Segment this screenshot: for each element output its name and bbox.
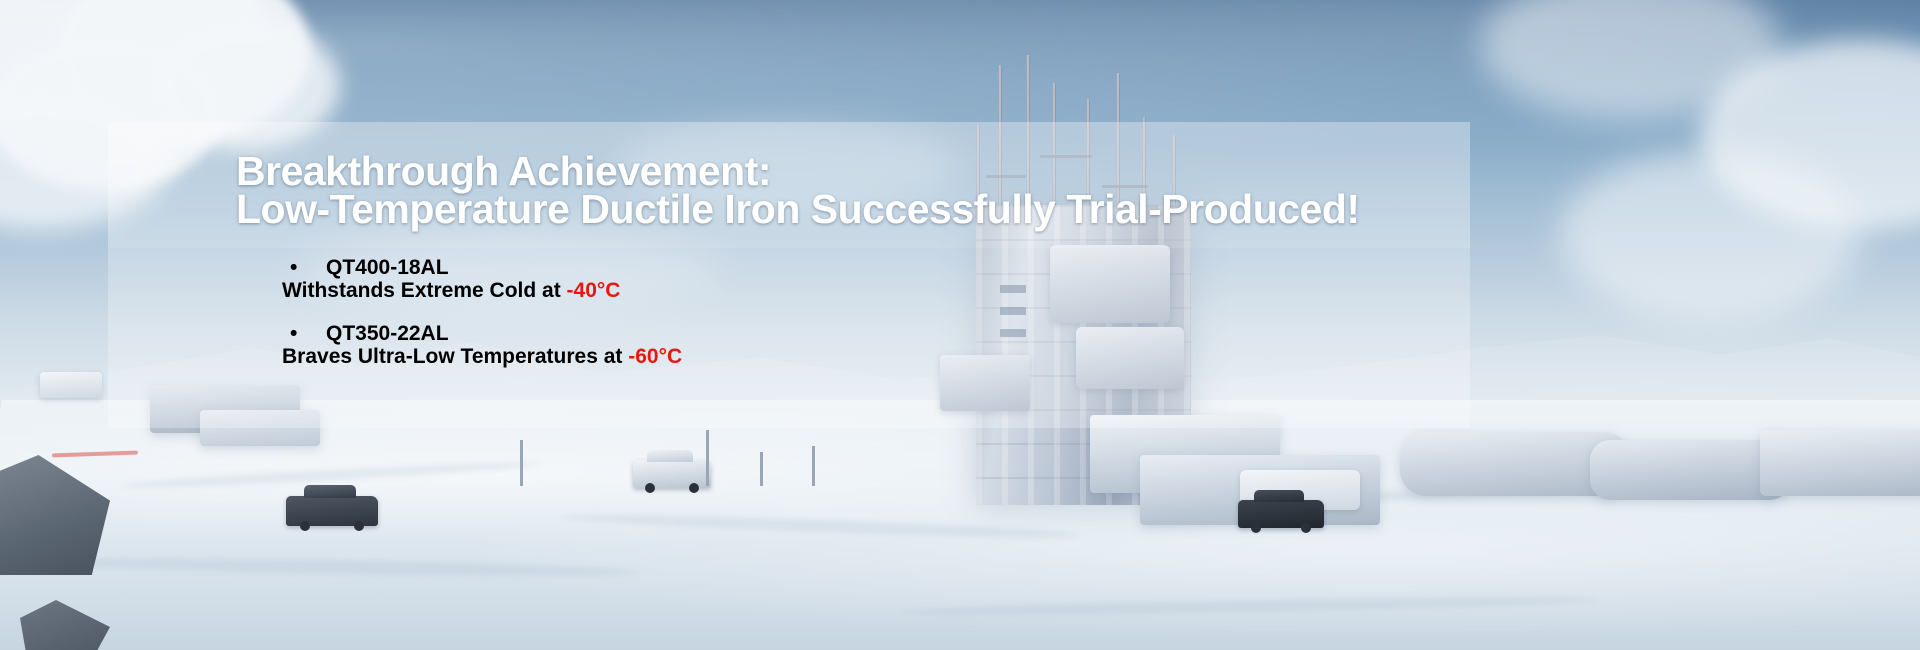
feature-grade: QT350-22AL [326, 322, 449, 345]
headline-line-1: Breakthrough Achievement: [236, 152, 1466, 190]
vehicle-icon [633, 460, 711, 488]
feature-grade-row: •QT400-18AL [282, 256, 1382, 279]
feature-description-row: Braves Ultra-Low Temperatures at -60°C [282, 345, 1382, 368]
wheel-shape [689, 483, 699, 493]
wheel-shape [645, 483, 655, 493]
feature-temperature: -40°C [567, 279, 621, 302]
list-item: •QT400-18AL Withstands Extreme Cold at -… [282, 256, 1382, 302]
utility-pole-icon [520, 440, 523, 486]
vehicle-icon [40, 372, 102, 398]
headline-line-2: Low-Temperature Ductile Iron Successfull… [236, 190, 1466, 228]
building-icon [1760, 430, 1920, 496]
banner-image: Breakthrough Achievement: Low-Temperatur… [0, 0, 1920, 650]
feature-description-row: Withstands Extreme Cold at -40°C [282, 279, 1382, 302]
feature-grade: QT400-18AL [326, 256, 449, 279]
vehicle-roof-shape [647, 450, 693, 462]
utility-pole-icon [706, 430, 709, 486]
wheel-shape [1251, 523, 1261, 533]
feature-description: Withstands Extreme Cold at [282, 279, 567, 302]
feature-grade-row: •QT350-22AL [282, 322, 1382, 345]
bullet-icon: • [290, 256, 326, 279]
cloud-shape [1560, 150, 1860, 320]
vehicle-icon [1238, 500, 1324, 528]
bullet-icon: • [290, 322, 326, 345]
vehicle-roof-shape [1254, 490, 1304, 502]
wheel-shape [1301, 523, 1311, 533]
feature-temperature: -60°C [628, 345, 682, 368]
wheel-shape [354, 521, 364, 531]
utility-pole-icon [812, 446, 815, 486]
feature-description: Braves Ultra-Low Temperatures at [282, 345, 628, 368]
utility-pole-icon [760, 452, 763, 486]
list-item: •QT350-22AL Braves Ultra-Low Temperature… [282, 322, 1382, 368]
page-title: Breakthrough Achievement: Low-Temperatur… [236, 152, 1466, 228]
vehicle-roof-shape [304, 485, 356, 498]
vehicle-icon [286, 496, 378, 526]
feature-list: •QT400-18AL Withstands Extreme Cold at -… [282, 256, 1382, 388]
wheel-shape [300, 521, 310, 531]
